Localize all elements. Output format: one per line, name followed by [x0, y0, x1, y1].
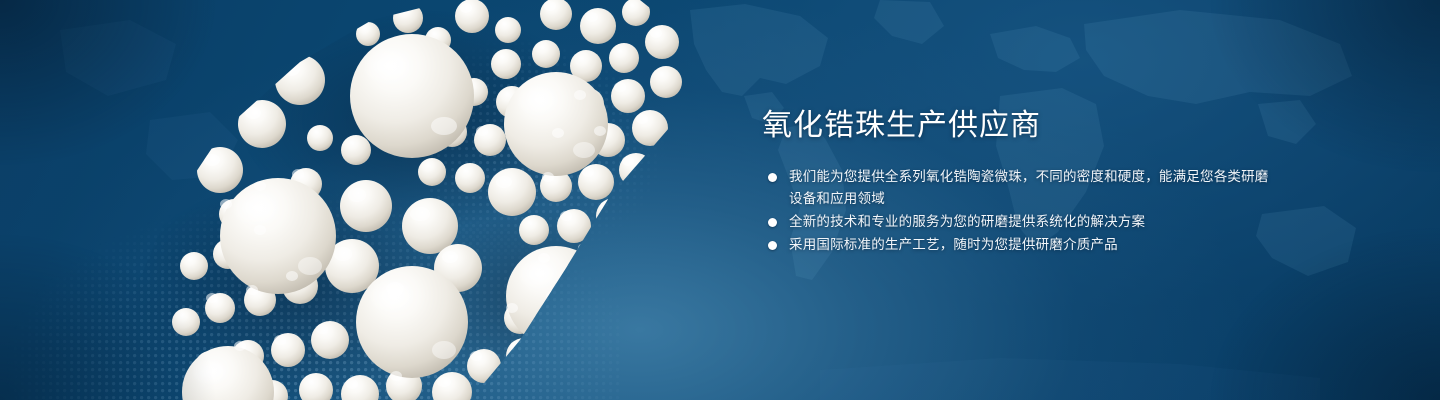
bullet-text-1: 我们能为您提供全系列氧化锆陶瓷微珠，不同的密度和硬度，能满足您各类研磨设备和应用… [789, 169, 1269, 206]
bullet-text-2: 全新的技术和专业的服务为您的研磨提供系统化的解决方案 [789, 214, 1145, 229]
hero-banner: 氧化锆珠生产供应商 我们能为您提供全系列氧化锆陶瓷微珠，不同的密度和硬度，能满足… [0, 0, 1440, 400]
banner-headline: 氧化锆珠生产供应商 [762, 108, 1282, 144]
bullet-item-1: 我们能为您提供全系列氧化锆陶瓷微珠，不同的密度和硬度，能满足您各类研磨设备和应用… [762, 166, 1282, 210]
bullet-dot-icon [768, 173, 777, 182]
bullet-item-2: 全新的技术和专业的服务为您的研磨提供系统化的解决方案 [762, 211, 1282, 233]
bullet-item-3: 采用国际标准的生产工艺，随时为您提供研磨介质产品 [762, 234, 1282, 256]
banner-bullet-list: 我们能为您提供全系列氧化锆陶瓷微珠，不同的密度和硬度，能满足您各类研磨设备和应用… [762, 166, 1282, 256]
bullet-dot-icon [768, 218, 777, 227]
bullet-dot-icon [768, 241, 777, 250]
banner-copy: 氧化锆珠生产供应商 我们能为您提供全系列氧化锆陶瓷微珠，不同的密度和硬度，能满足… [762, 108, 1282, 257]
bullet-text-3: 采用国际标准的生产工艺，随时为您提供研磨介质产品 [789, 237, 1118, 252]
